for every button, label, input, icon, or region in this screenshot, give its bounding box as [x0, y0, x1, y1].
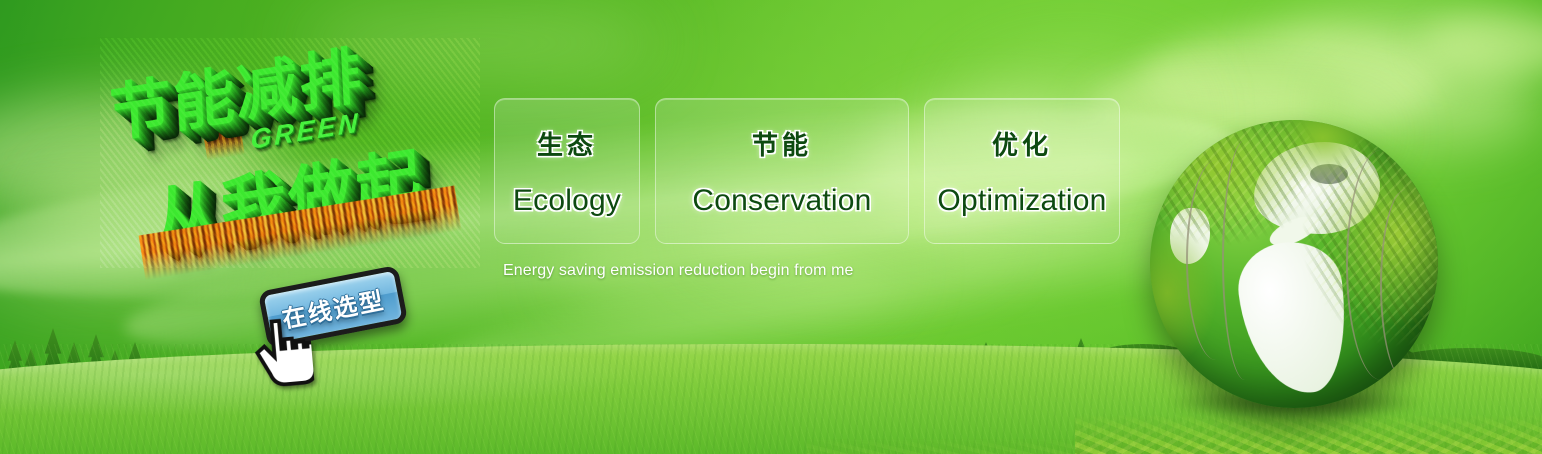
pointing-hand-cursor-icon [249, 314, 315, 391]
banner-tagline: Energy saving emission reduction begin f… [503, 262, 854, 280]
feature-card-cn-label: 生态 [537, 125, 597, 162]
feature-card-ecology[interactable]: 生态 Ecology [494, 98, 640, 244]
eco-banner: 节能减排 GREEN 从我做起 在线选型 生态 Ecology 节能 Conse… [0, 0, 1542, 454]
feature-card-cn-label: 节能 [752, 125, 812, 162]
feature-card-conservation[interactable]: 节能 Conservation [655, 98, 909, 244]
feature-card-en-label: Optimization [937, 184, 1106, 218]
feature-card-cn-label: 优化 [992, 125, 1052, 162]
feature-card-optimization[interactable]: 优化 Optimization [924, 98, 1120, 244]
feature-card-list: 生态 Ecology 节能 Conservation 优化 Optimizati… [494, 98, 1120, 244]
feature-card-en-label: Ecology [513, 184, 621, 218]
feature-card-en-label: Conservation [692, 184, 871, 218]
headline-3d-artwork: 节能减排 GREEN 从我做起 [100, 38, 480, 268]
leaf-litter-icon [807, 438, 1107, 454]
leafy-globe-icon [1128, 112, 1458, 442]
